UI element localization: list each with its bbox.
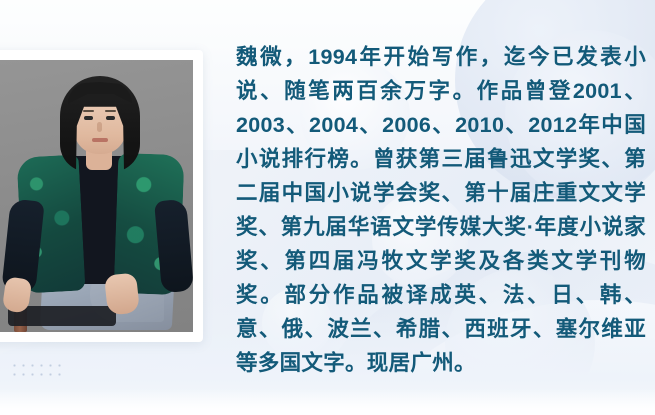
- portrait-mouth: [92, 138, 108, 142]
- portrait-eye-left: [84, 116, 93, 120]
- portrait-nose: [97, 122, 102, 132]
- background-bottom-fade: [0, 389, 655, 415]
- portrait-card: [0, 50, 203, 342]
- portrait-photo: [0, 60, 193, 332]
- author-biography-text: 魏微，1994年开始写作，迄今已发表小说、随笔两百余万字。作品曾登2001、20…: [236, 40, 646, 380]
- dot-grid-ornament: [10, 361, 64, 382]
- slide-canvas: 魏微，1994年开始写作，迄今已发表小说、随笔两百余万字。作品曾登2001、20…: [0, 0, 655, 415]
- portrait-arm-right: [154, 199, 193, 293]
- portrait-hand-right: [104, 272, 140, 315]
- portrait-eyebrow-right: [105, 110, 116, 112]
- portrait-eye-right: [106, 116, 115, 120]
- portrait-eyebrow-left: [83, 110, 94, 112]
